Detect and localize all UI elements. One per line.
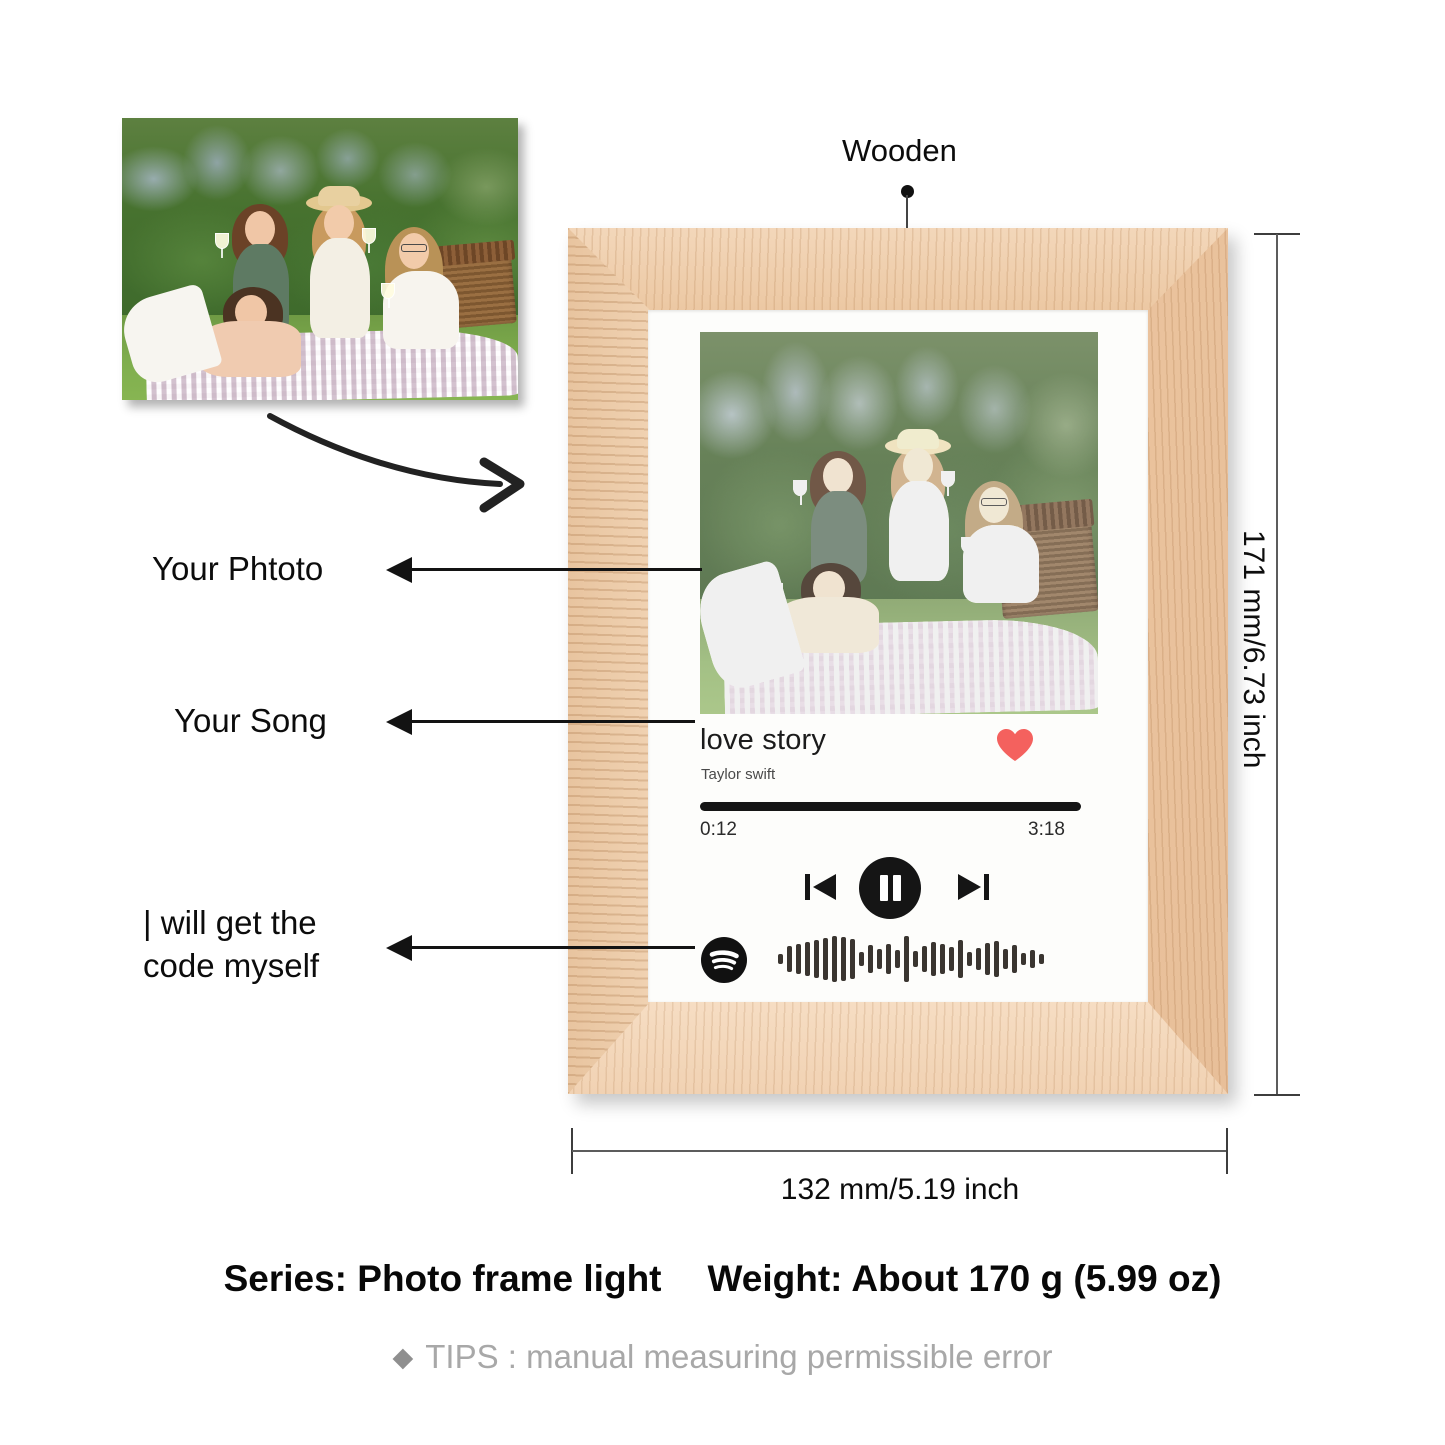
height-dimension-cap-bottom [1254,1094,1300,1096]
width-dimension-line [572,1150,1228,1152]
spotify-code-bar [805,942,810,976]
spotify-code-bar [895,950,900,968]
spotify-code-bar [940,944,945,974]
previous-track-icon[interactable] [805,871,839,903]
your-song-label: Your Song [174,700,327,743]
inner-picnic-scene [700,332,1098,714]
spotify-code-bar [778,954,783,964]
series-spec: Series: Photo frame light [224,1258,662,1300]
picnic-scene [122,118,518,400]
spotify-code-bar [850,939,855,979]
frame-bevel-left [568,228,650,1094]
wooden-label: Wooden [842,133,957,169]
code-myself-leader-line [400,946,695,949]
frame-bevel-right [1146,228,1228,1094]
height-dimension-label: 171 mm/6.73 inch [1236,530,1270,950]
heart-icon[interactable] [996,728,1034,762]
time-total: 3:18 [1028,819,1065,841]
spotify-code-bar [985,943,990,975]
spotify-code-bar [994,941,999,977]
song-artist: Taylor swift [701,766,775,783]
your-photo-arrow-head [386,557,412,583]
frame-bevel-bottom [568,1002,1228,1094]
spotify-code-bar [904,936,909,982]
playback-controls [700,857,1081,919]
height-dimension-line [1276,234,1278,1095]
spotify-code-bar [886,944,891,974]
progress-bar[interactable] [700,802,1081,811]
code-myself-arrow-head [386,935,412,961]
spotify-code-bar [859,952,864,966]
spotify-code-bar [976,948,981,970]
spotify-code-bar [1039,954,1044,964]
weight-spec: Weight: About 170 g (5.99 oz) [708,1258,1222,1300]
your-song-leader-line [400,720,695,723]
spotify-code-bar [787,946,792,972]
tips-row: ◆ TIPS : manual measuring permissible er… [0,1338,1445,1376]
product-infographic: Wooden [0,0,1445,1445]
spotify-code-bar [1003,949,1008,969]
diamond-icon: ◆ [393,1342,414,1373]
inner-printed-photo [700,332,1098,714]
spotify-code-bar [949,947,954,971]
spotify-code-bar [931,942,936,976]
wooden-photo-frame: love story Taylor swift 0:12 3:18 [568,228,1228,1094]
reference-photo [122,118,518,400]
spotify-code-bar [913,951,918,967]
tips-text: TIPS : manual measuring permissible erro… [425,1338,1052,1376]
spec-row: Series: Photo frame light Weight: About … [0,1258,1445,1300]
next-track-icon[interactable] [955,871,989,903]
curved-arrow-icon [262,398,562,528]
your-photo-label: Your Phtoto [152,548,323,591]
width-dimension-cap-right [1226,1128,1228,1174]
your-photo-leader-line [400,568,702,571]
spotify-code-bar [1021,953,1026,965]
time-elapsed: 0:12 [700,819,737,841]
spotify-code-bar [868,945,873,973]
spotify-code-bar [832,936,837,982]
pause-icon[interactable] [859,857,921,919]
frame-bevel-top [568,228,1228,310]
frame-mat: love story Taylor swift 0:12 3:18 [648,310,1148,1002]
spotify-code-bar [823,938,828,980]
music-player-plate: love story Taylor swift 0:12 3:18 [648,722,1148,997]
spotify-code-bar [1012,945,1017,973]
spotify-code-bar [814,940,819,978]
spotify-code-row [700,934,1081,986]
spotify-code-bar [958,940,963,978]
code-myself-label: | will get the code myself [143,902,319,988]
spotify-code-bar [841,937,846,981]
spotify-code-bar [796,944,801,974]
spotify-code-bar [967,952,972,966]
your-song-arrow-head [386,709,412,735]
spotify-code-bar [922,946,927,972]
width-dimension-label: 132 mm/5.19 inch [572,1173,1228,1207]
spotify-logo-icon [700,936,748,984]
spotify-code-bar [877,949,882,969]
spotify-scan-code[interactable] [778,934,1078,984]
spotify-code-bar [1030,950,1035,968]
song-title: love story [700,724,826,757]
